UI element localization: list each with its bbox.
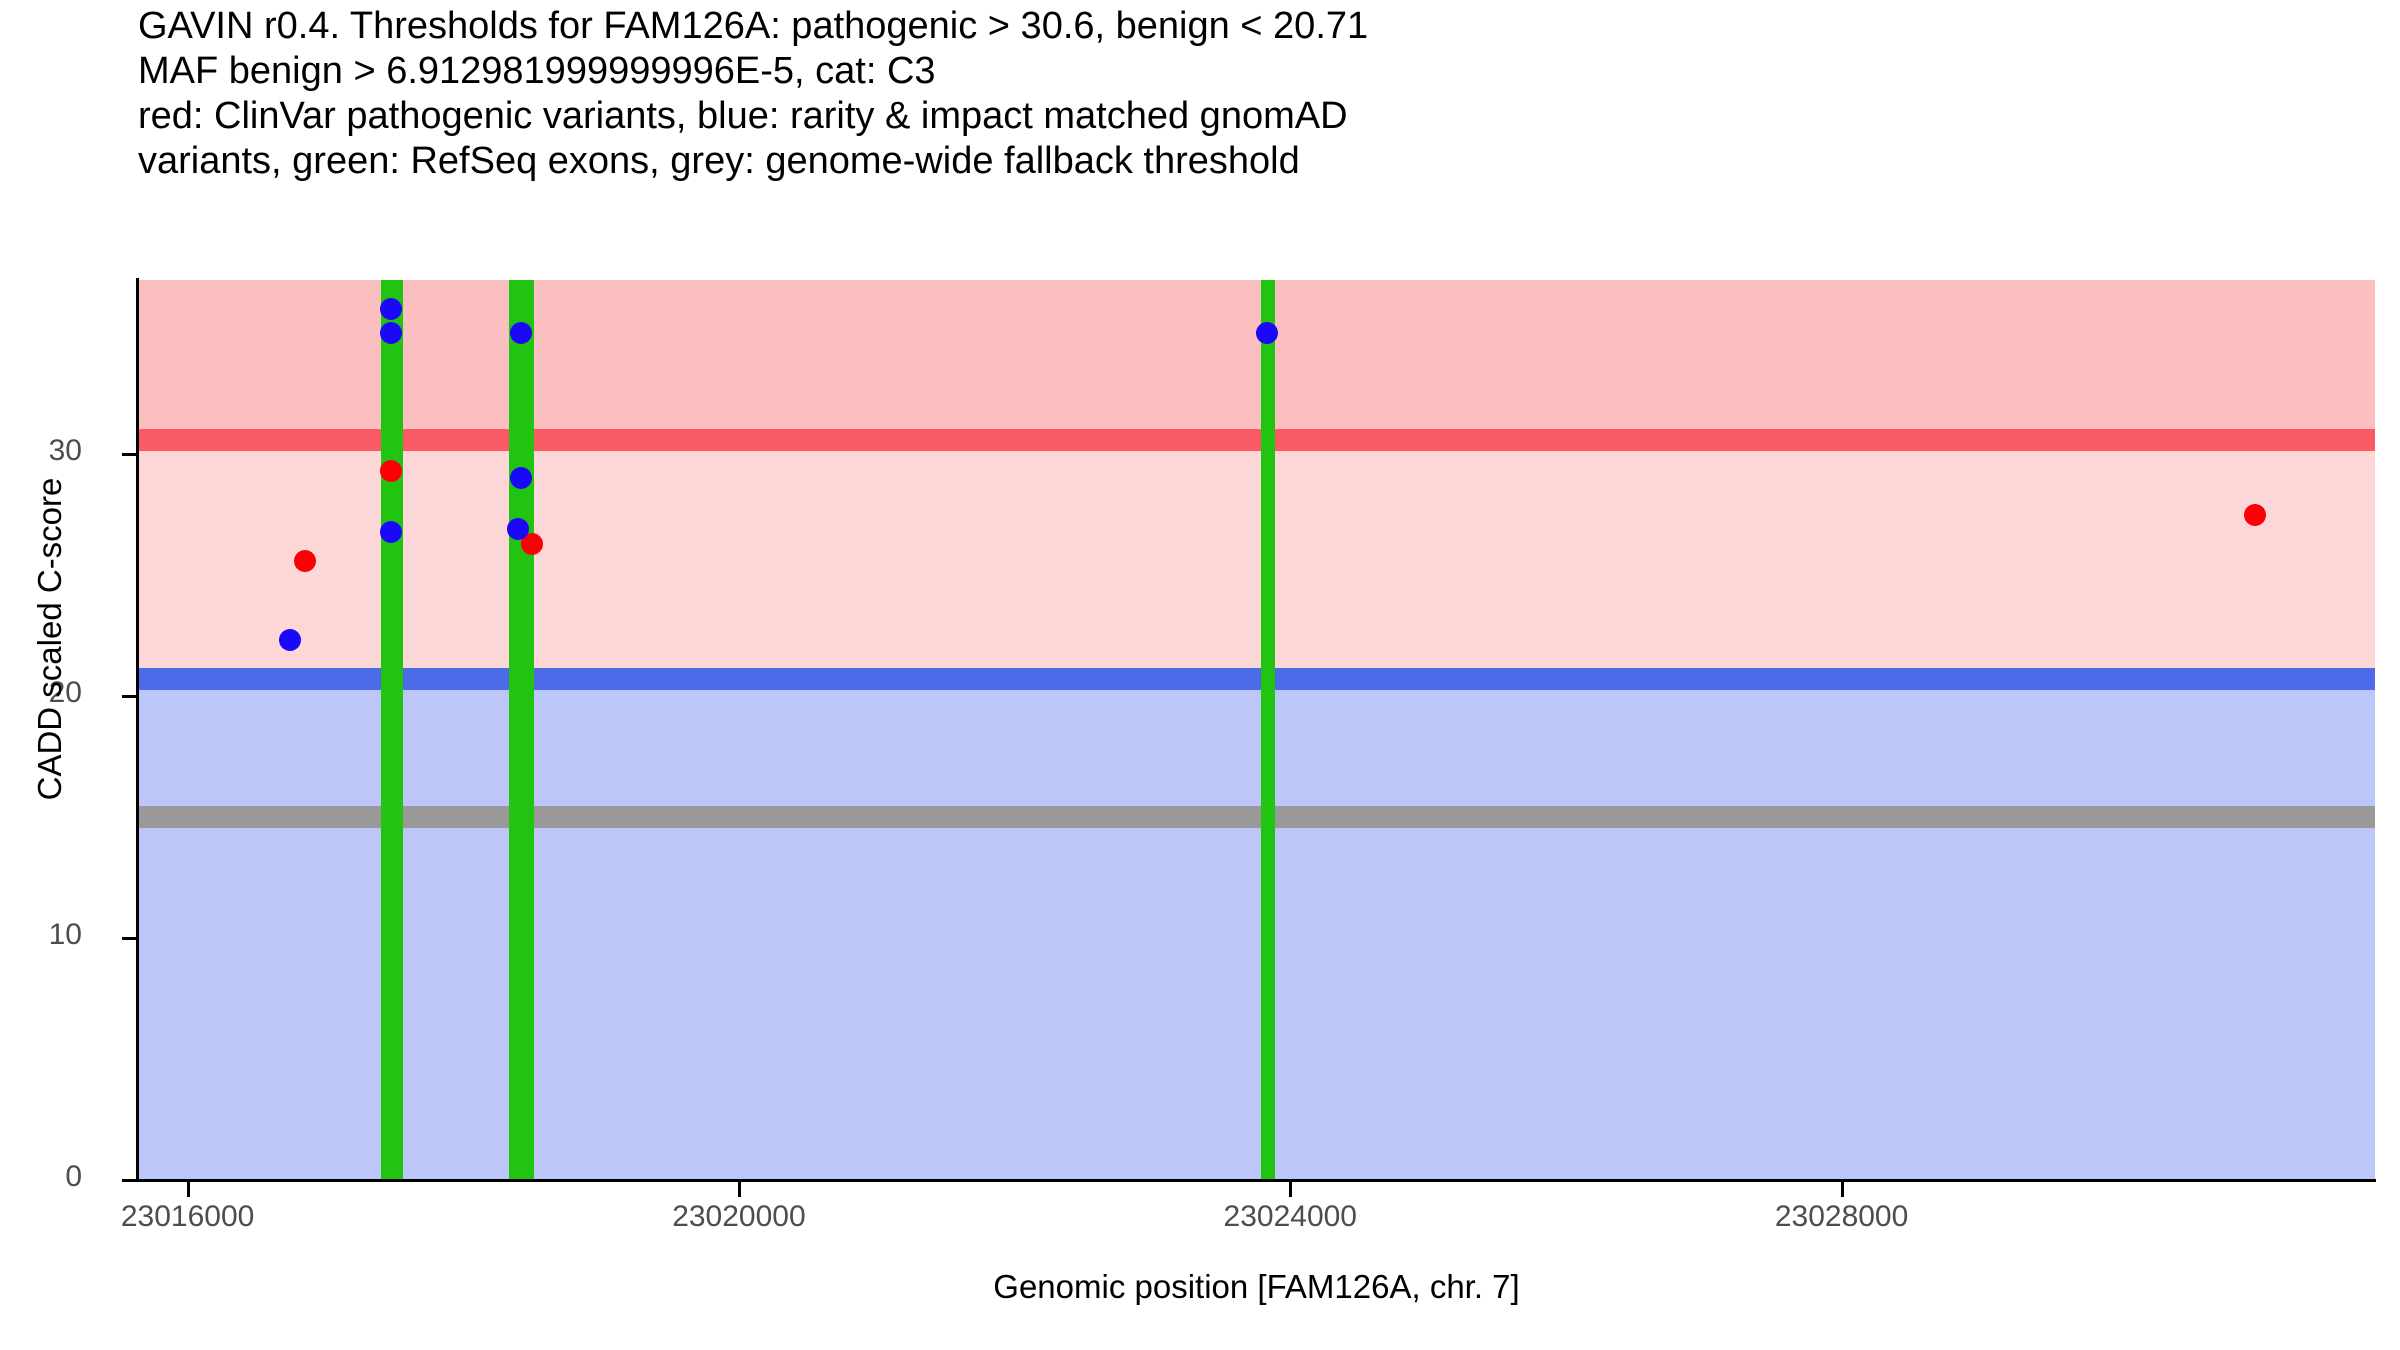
y-axis-tick-label: 10 (0, 918, 82, 952)
y-axis-tick (122, 695, 137, 698)
title-line-3: red: ClinVar pathogenic variants, blue: … (138, 94, 2378, 139)
gnomad-variant-point[interactable] (279, 629, 301, 651)
pathogenic-threshold-line (138, 429, 2375, 451)
x-axis-tick-label: 23024000 (1170, 1200, 1410, 1234)
clinvar-variant-point[interactable] (2244, 504, 2266, 526)
plot-panel (138, 280, 2375, 1180)
y-axis-tick (122, 1179, 137, 1182)
x-axis-tick (738, 1182, 741, 1197)
y-axis-tick (122, 937, 137, 940)
y-axis-label: CADD scaled C-score (31, 359, 69, 919)
gnomad-variant-point[interactable] (380, 521, 402, 543)
x-axis-tick-label: 23028000 (1722, 1200, 1962, 1234)
exon-bar (509, 280, 534, 1180)
chart-root: GAVIN r0.4. Thresholds for FAM126A: path… (0, 0, 2400, 1350)
pathogenic-band (138, 280, 2375, 440)
x-axis-line (136, 1179, 2376, 1182)
x-axis-tick-label: 23020000 (619, 1200, 859, 1234)
y-axis-line (136, 278, 139, 1182)
title-line-1: GAVIN r0.4. Thresholds for FAM126A: path… (138, 4, 2378, 49)
fallback-threshold-line (138, 806, 2375, 828)
y-axis-tick (122, 453, 137, 456)
gnomad-variant-point[interactable] (380, 298, 402, 320)
x-axis-tick (1841, 1182, 1844, 1197)
chart-title-block: GAVIN r0.4. Thresholds for FAM126A: path… (138, 4, 2378, 184)
clinvar-variant-point[interactable] (294, 550, 316, 572)
exon-bar (381, 280, 403, 1180)
benign-threshold-line (138, 668, 2375, 690)
x-axis-label: Genomic position [FAM126A, chr. 7] (138, 1268, 2375, 1306)
inconclusive-band (138, 440, 2375, 679)
x-axis-tick (1289, 1182, 1292, 1197)
exon-bar (1261, 280, 1275, 1180)
y-axis-tick-label: 0 (0, 1160, 82, 1194)
benign-band (138, 679, 2375, 1180)
x-axis-tick-label: 23016000 (68, 1200, 308, 1234)
gnomad-variant-point[interactable] (380, 322, 402, 344)
title-line-2: MAF benign > 6.912981999999996E-5, cat: … (138, 49, 2378, 94)
clinvar-variant-point[interactable] (380, 460, 402, 482)
title-line-4: variants, green: RefSeq exons, grey: gen… (138, 139, 2378, 184)
gnomad-variant-point[interactable] (1256, 322, 1278, 344)
x-axis-tick (187, 1182, 190, 1197)
